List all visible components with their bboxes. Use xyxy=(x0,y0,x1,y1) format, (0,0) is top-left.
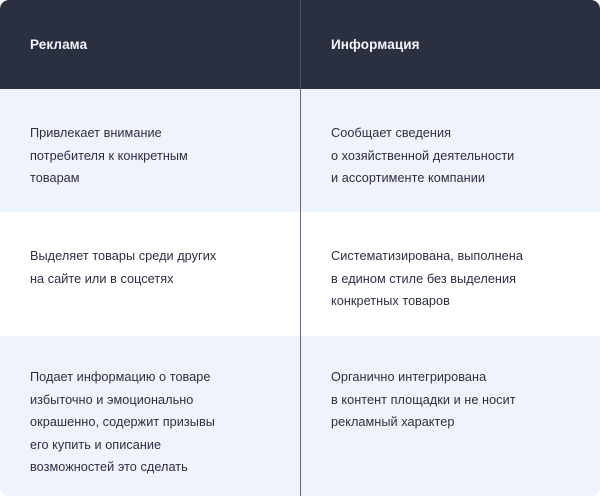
table-cell-information-1: Сообщает сведения о хозяйственной деятел… xyxy=(300,89,600,212)
table-cell-information-2: Систематизирована, выполнена в едином ст… xyxy=(300,212,600,336)
table-cell-text: Систематизирована, выполнена в едином ст… xyxy=(331,212,523,313)
table-cell-information-3: Органично интегрирована в контент площад… xyxy=(300,336,600,496)
table-cell-text: Выделяет товары среди других на сайте ил… xyxy=(30,212,216,290)
table-row: Подает информацию о товаре избыточно и э… xyxy=(0,336,600,496)
table-cell-text: Органично интегрирована в контент площад… xyxy=(331,336,516,434)
column-header-information-label: Информация xyxy=(331,36,420,54)
table-cell-advertising-1: Привлекает внимание потребителя к конкре… xyxy=(0,89,300,212)
column-header-advertising-label: Реклама xyxy=(30,36,87,54)
table-cell-text: Подает информацию о товаре избыточно и э… xyxy=(30,336,215,479)
table-cell-advertising-2: Выделяет товары среди других на сайте ил… xyxy=(0,212,300,336)
table-cell-text: Привлекает внимание потребителя к конкре… xyxy=(30,89,188,190)
column-header-advertising: Реклама xyxy=(0,0,300,89)
comparison-table-card: Реклама Информация Привлекает внимание п… xyxy=(0,0,600,496)
table-body: Привлекает внимание потребителя к конкре… xyxy=(0,89,600,496)
table-header-row: Реклама Информация xyxy=(0,0,600,89)
table-cell-advertising-3: Подает информацию о товаре избыточно и э… xyxy=(0,336,300,496)
column-header-information: Информация xyxy=(300,0,600,89)
table-row: Выделяет товары среди других на сайте ил… xyxy=(0,212,600,336)
table-row: Привлекает внимание потребителя к конкре… xyxy=(0,89,600,212)
table-cell-text: Сообщает сведения о хозяйственной деятел… xyxy=(331,89,514,190)
